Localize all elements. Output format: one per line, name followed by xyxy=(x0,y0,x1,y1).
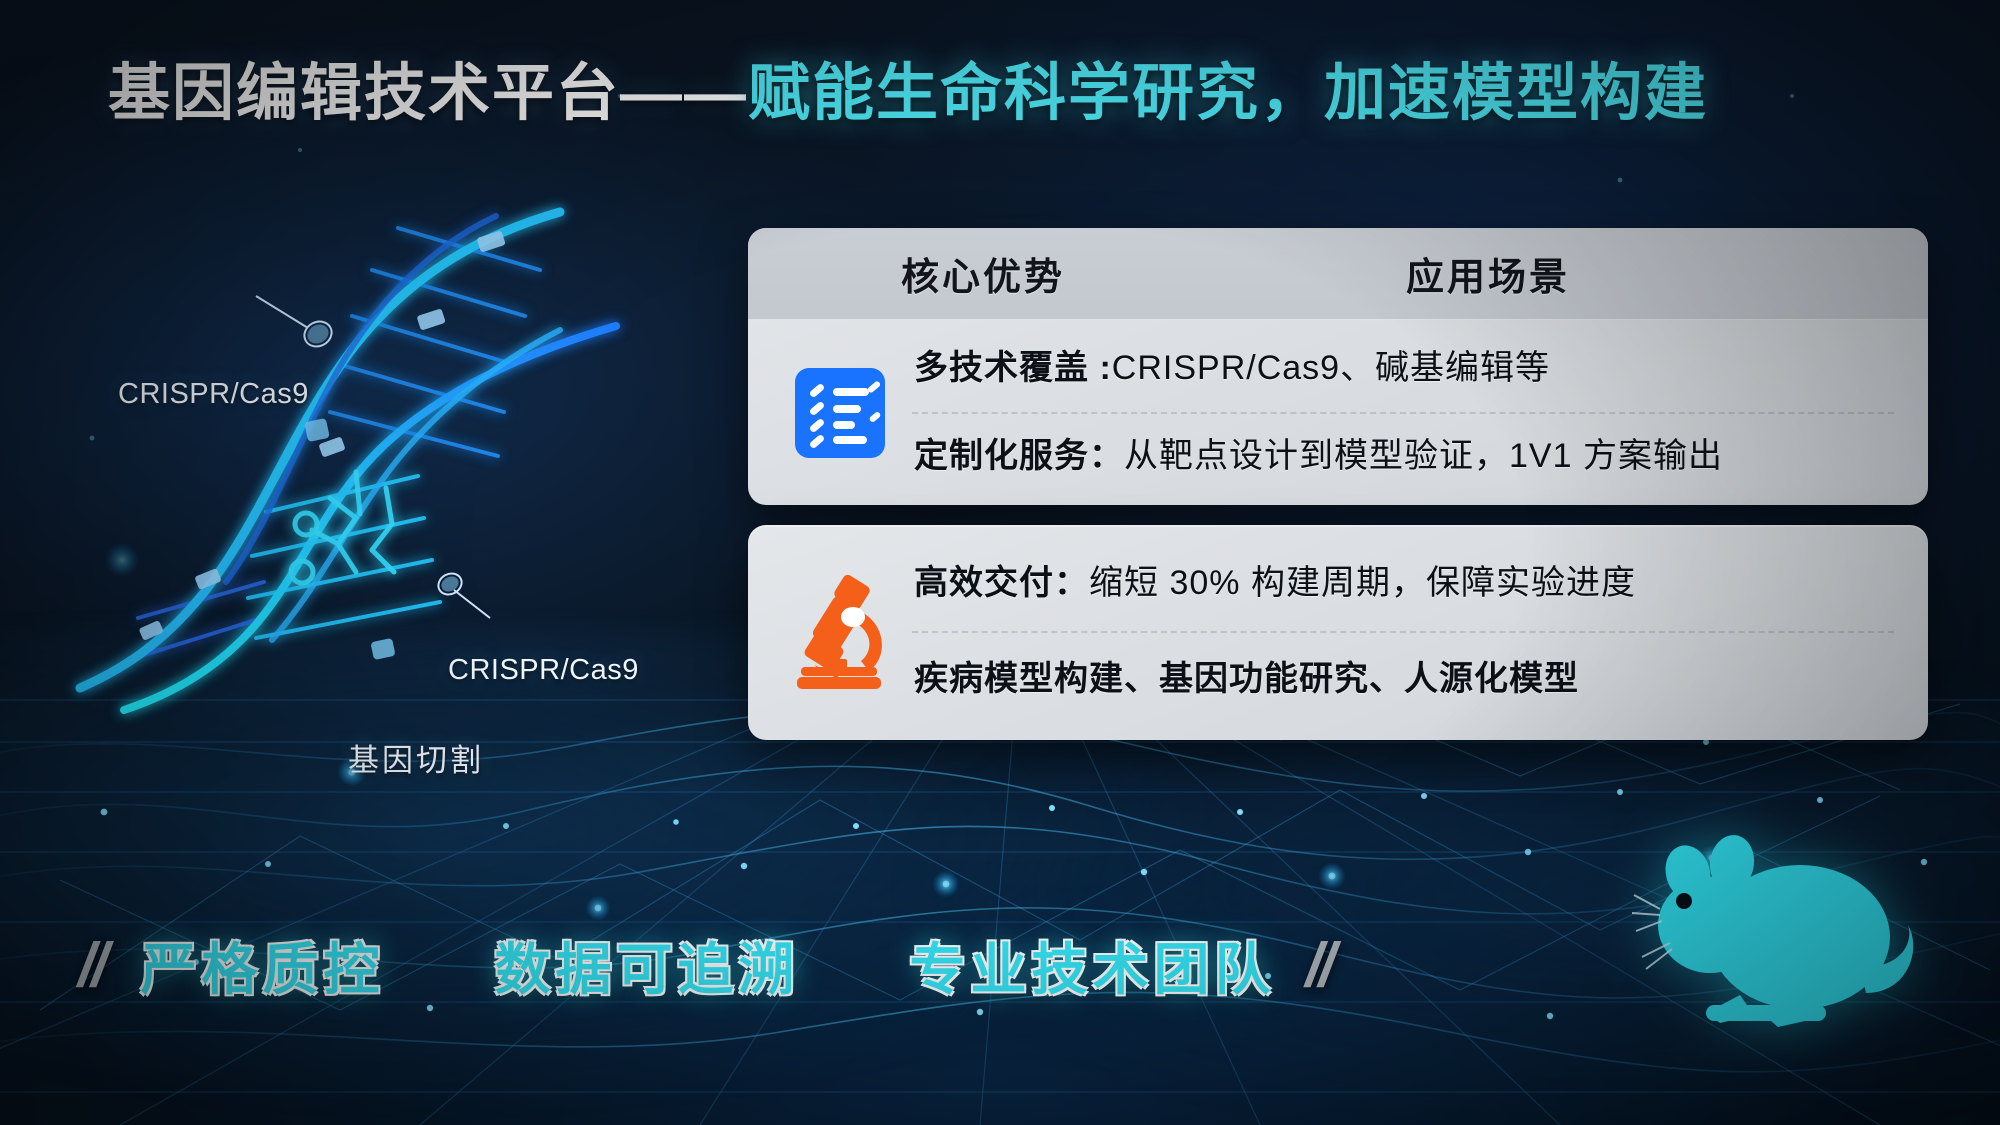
page-title-dash: —— xyxy=(620,59,748,128)
line-text: CRISPR/Cas9、碱基编辑等 xyxy=(1112,349,1550,387)
card-line: 高效交付：缩短 30% 构建周期，保障实验进度 xyxy=(910,541,1894,627)
label-crispr-cas9-bottom: CRISPR/Cas9 xyxy=(448,654,639,687)
mouse-icon xyxy=(1632,817,1922,1047)
card-divider xyxy=(912,412,1894,414)
card-divider xyxy=(912,631,1894,633)
card-line: 疾病模型构建、基因功能研究、人源化模型 xyxy=(910,637,1894,723)
line-label: 高效交付： xyxy=(914,564,1089,602)
tagline-professional-team: 专业技术团队 xyxy=(909,925,1275,1006)
header-application-scenario: 应用场景 xyxy=(1218,246,1928,301)
line-text: 从靶点设计到模型验证，1V1 方案输出 xyxy=(1124,437,1723,475)
panel-header-row: 核心优势 应用场景 xyxy=(748,228,1928,320)
info-panel: 核心优势 应用场景 xyxy=(748,228,1928,740)
line-label: 多技术覆盖 : xyxy=(914,349,1112,387)
card-body-1: 多技术覆盖 :CRISPR/Cas9、碱基编辑等 定制化服务：从靶点设计到模型验… xyxy=(748,320,1928,505)
page-title-main: 基因编辑技术平台 xyxy=(108,59,620,128)
card-lines-1: 多技术覆盖 :CRISPR/Cas9、碱基编辑等 定制化服务：从靶点设计到模型验… xyxy=(904,330,1894,495)
slide-root: 基因编辑技术平台——赋能生命科学研究，加速模型构建 xyxy=(0,0,2000,1125)
tagline-quality-control: 严格质控 xyxy=(140,925,384,1006)
card-lines-2: 高效交付：缩短 30% 构建周期，保障实验进度 疾病模型构建、基因功能研究、人源… xyxy=(904,541,1894,722)
card-application-scenario: 高效交付：缩短 30% 构建周期，保障实验进度 疾病模型构建、基因功能研究、人源… xyxy=(748,525,1928,740)
line-text: 疾病模型构建、基因功能研究、人源化模型 xyxy=(914,660,1579,698)
footer-taglines: // 严格质控 数据可追溯 专业技术团队 // xyxy=(0,905,1400,1025)
label-gene-cut: 基因切割 xyxy=(348,735,484,780)
slash-decoration-left: // xyxy=(78,930,104,1001)
line-label: 定制化服务： xyxy=(914,437,1124,475)
tagline-data-traceable: 数据可追溯 xyxy=(494,925,799,1006)
document-list-icon xyxy=(776,362,904,464)
card-core-advantage: 核心优势 应用场景 xyxy=(748,228,1928,505)
header-core-advantage: 核心优势 xyxy=(748,246,1218,301)
card-line: 定制化服务：从靶点设计到模型验证，1V1 方案输出 xyxy=(910,418,1894,496)
line-text: 缩短 30% 构建周期，保障实验进度 xyxy=(1089,564,1636,602)
label-crispr-cas9-top: CRISPR/Cas9 xyxy=(118,378,309,411)
slash-decoration-right: // xyxy=(1305,930,1331,1001)
page-title: 基因编辑技术平台——赋能生命科学研究，加速模型构建 xyxy=(108,42,1708,132)
microscope-icon xyxy=(776,573,904,691)
dna-double-helix-icon xyxy=(20,120,660,680)
card-line: 多技术覆盖 :CRISPR/Cas9、碱基编辑等 xyxy=(910,330,1894,408)
page-title-highlight: 赋能生命科学研究，加速模型构建 xyxy=(748,59,1708,128)
card-body-2: 高效交付：缩短 30% 构建周期，保障实验进度 疾病模型构建、基因功能研究、人源… xyxy=(748,525,1928,740)
